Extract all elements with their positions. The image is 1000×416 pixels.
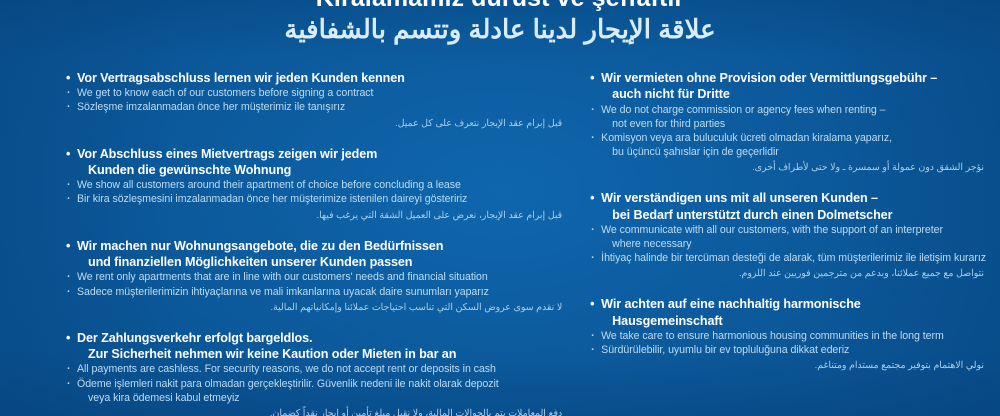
promise-english: We take care to ensure harmonious housin… <box>590 329 986 343</box>
promise-english-line1: We rent only apartments that are in line… <box>77 271 488 283</box>
promise-heading: Vor Abschluss eines Mietvertrags zeigen … <box>66 146 564 179</box>
promise-turkish: İhtiyaç halinde bir tercüman desteği de … <box>590 251 986 265</box>
promise-english-line2: where necessary <box>601 237 986 251</box>
promise-heading-line1: Vor Vertragsabschluss lernen wir jeden K… <box>77 71 405 85</box>
promise-english: We communicate with all our customers, w… <box>590 223 986 251</box>
promise-heading: Wir achten auf eine nachhaltig harmonisc… <box>590 296 986 329</box>
promise-turkish: Sadece müşterilerimizin ihtiyaçlarına ve… <box>66 285 564 299</box>
promise-turkish-line2: veya kira ödemesi kabul etmeyiz <box>77 391 564 405</box>
promise-heading: Wir machen nur Wohnungsangebote, die zu … <box>66 238 564 271</box>
promise-heading-line1: Wir vermieten ohne Provision oder Vermit… <box>601 71 937 85</box>
promise-english-line1: We do not charge commission or agency fe… <box>601 104 885 116</box>
promise-heading: Vor Vertragsabschluss lernen wir jeden K… <box>66 70 564 86</box>
promise-english-line1: We get to know each of our customers bef… <box>77 87 373 99</box>
promise-english-line1: We take care to ensure harmonious housin… <box>601 330 944 342</box>
promise-english-line1: We show all customers around their apart… <box>77 179 461 191</box>
promise-heading: Wir vermieten ohne Provision oder Vermit… <box>590 70 986 103</box>
promise-heading-line2: Hausgemeinschaft <box>601 313 986 329</box>
promise-turkish: Ödeme işlemleri nakit para olmadan gerçe… <box>66 377 564 405</box>
promise-turkish-line1: Ödeme işlemleri nakit para olmadan gerçe… <box>77 378 499 390</box>
promise-english-line2: not even for third parties <box>601 117 986 131</box>
promise-heading-line2: und finanziellen Möglichkeiten unserer K… <box>77 254 564 270</box>
promise-arabic: نتواصل مع جميع عملائنا، وبدعم من مترجمين… <box>590 266 986 279</box>
promise-turkish: Sürdürülebilir, uyumlu bir ev topluluğun… <box>590 343 986 357</box>
promise-turkish-line1: Bir kira sözleşmesini imzalanmadan önce … <box>77 193 467 205</box>
promise-heading-line2: bei Bedarf unterstützt durch einen Dolme… <box>601 207 986 223</box>
page-title-latin: Kiralamamız dürüst ve şeffaftır <box>0 0 1000 11</box>
promise-english: We show all customers around their apart… <box>66 178 564 192</box>
promise-turkish-line1: Sözleşme imzalanmadan önce her müşterimi… <box>77 101 345 113</box>
promise-turkish-line1: Sürdürülebilir, uyumlu bir ev topluluğun… <box>601 344 849 356</box>
promise-arabic: نولي الاهتمام بتوفير مجتمع مستدام ومتناغ… <box>590 358 986 371</box>
promise-heading-line1: Wir achten auf eine nachhaltig harmonisc… <box>601 297 861 311</box>
promise-turkish-line2: bu üçüncü şahıslar için de geçerlidir <box>601 145 986 159</box>
promise-heading-line1: Wir machen nur Wohnungsangebote, die zu … <box>77 239 443 253</box>
promise-heading-line1: Der Zahlungsverkehr erfolgt bargeldlos. <box>77 331 312 345</box>
promise-heading-line1: Wir verständigen uns mit all unseren Kun… <box>601 191 878 205</box>
promise-arabic: نؤجر الشقق دون عمولة أو سمسرة ـ ولا حتى … <box>590 160 986 173</box>
promise-turkish-line1: Sadece müşterilerimizin ihtiyaçlarına ve… <box>77 286 489 298</box>
promise-turkish: Bir kira sözleşmesini imzalanmadan önce … <box>66 192 564 206</box>
promise-block: Wir achten auf eine nachhaltig harmonisc… <box>590 296 986 371</box>
promise-turkish-line1: Komisyon veya ara buluculuk ücreti olmad… <box>601 132 892 144</box>
promise-turkish-line1: İhtiyaç halinde bir tercüman desteği de … <box>601 252 986 264</box>
promise-english-line1: We communicate with all our customers, w… <box>601 224 943 236</box>
promise-heading-line1: Vor Abschluss eines Mietvertrags zeigen … <box>77 147 377 161</box>
promise-heading-line2: auch nicht für Dritte <box>601 86 986 102</box>
page-header: Kiralamamız dürüst ve şeffaftır علاقة ال… <box>0 0 1000 46</box>
promise-heading: Wir verständigen uns mit all unseren Kun… <box>590 190 986 223</box>
promise-turkish: Sözleşme imzalanmadan önce her müşterimi… <box>66 100 564 114</box>
promise-english: We get to know each of our customers bef… <box>66 86 564 100</box>
promise-turkish: Komisyon veya ara buluculuk ücreti olmad… <box>590 131 986 159</box>
promise-block: Der Zahlungsverkehr erfolgt bargeldlos. … <box>66 330 564 416</box>
promise-block: Wir vermieten ohne Provision oder Vermit… <box>590 70 986 173</box>
promise-english: We do not charge commission or agency fe… <box>590 103 986 131</box>
promise-heading-line2: Zur Sicherheit nehmen wir keine Kaution … <box>77 346 564 362</box>
promise-english: We rent only apartments that are in line… <box>66 270 564 284</box>
promise-heading: Der Zahlungsverkehr erfolgt bargeldlos. … <box>66 330 564 363</box>
content-columns: Vor Vertragsabschluss lernen wir jeden K… <box>0 70 1000 416</box>
page-title-arabic: علاقة الإيجار لدينا عادلة وتتسم بالشفافي… <box>0 13 1000 46</box>
promise-english-line1: All payments are cashless. For security … <box>77 363 496 375</box>
promise-english: All payments are cashless. For security … <box>66 362 564 376</box>
promise-heading-line2: Kunden die gewünschte Wohnung <box>77 162 564 178</box>
promise-block: Wir verständigen uns mit all unseren Kun… <box>590 190 986 279</box>
